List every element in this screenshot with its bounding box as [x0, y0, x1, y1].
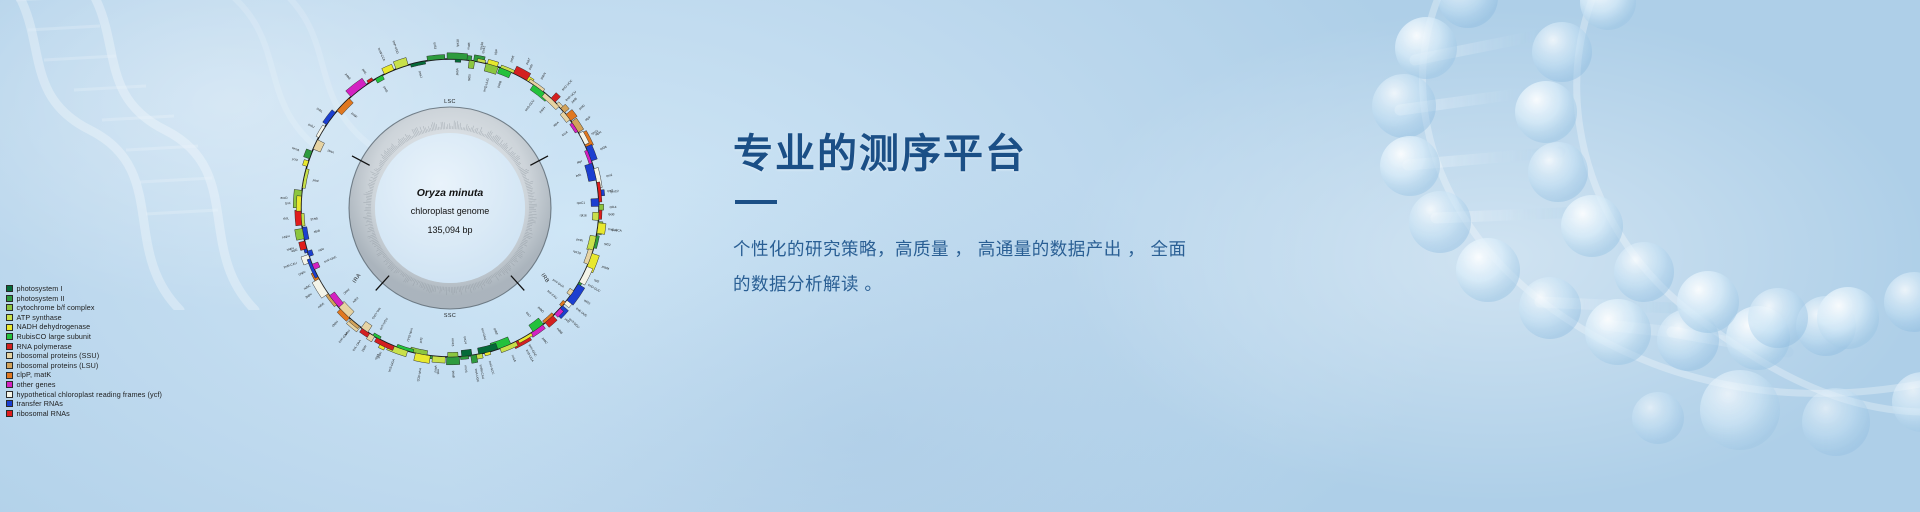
genome-gene-label: infA [575, 173, 582, 178]
genome-gene-feature [597, 223, 606, 235]
legend-row: other genes [6, 380, 162, 390]
genome-gene-label: psbC [541, 337, 549, 346]
genome-gene-feature [382, 64, 394, 74]
legend-color-swatch [6, 324, 13, 331]
genome-gene-label: psbE [344, 73, 351, 81]
genome-gene-label: trnI-CAU [546, 289, 558, 300]
genome-gene-label: rrn4.5 [451, 338, 455, 346]
genome-gene-feature [579, 267, 593, 286]
genome-gene-label: trnM-CAU [283, 261, 297, 269]
genome-gene-label: rpoC1 [577, 201, 586, 205]
genome-gene-label: matK [466, 41, 471, 50]
legend-row: photosystem I [6, 284, 162, 294]
genome-gene-label: trnQ-UUG [482, 77, 490, 92]
genome-gene-label: ndhC [303, 283, 312, 290]
genome-gene-label: clpP [493, 49, 499, 56]
genome-gene-label: rpl23 [583, 298, 591, 305]
genome-gene-label: ndhI [318, 247, 325, 253]
genome-gene-label: trnS-GGA [387, 358, 396, 373]
genome-gene-label: rpl14 [610, 205, 617, 209]
banner-copy: 专业的测序平台 个性化的研究策略，高质量 ， 高通量的数据产出 ， 全面 的数据… [733, 130, 1433, 302]
legend-label: photosystem II [17, 294, 65, 304]
legend-color-swatch [6, 333, 13, 340]
banner-description-line-1: 个性化的研究策略，高质量 ， 高通量的数据产出 ， 全面 [733, 232, 1263, 267]
genome-gene-label: trnT-UGU [379, 317, 389, 330]
legend-row: ATP synthase [6, 313, 162, 323]
genome-gene-label: trnG-GCC [488, 360, 496, 375]
genome-gene-label: psaB [451, 371, 455, 378]
genome-gene-feature [599, 204, 604, 210]
genome-gene-label: rpoB [608, 212, 615, 216]
genome-region-label-lsc: LSC [444, 99, 456, 105]
genome-gene-label: psaC [342, 288, 351, 296]
legend-color-swatch [6, 391, 13, 398]
legend-color-swatch [6, 410, 13, 417]
genome-gene-feature [296, 196, 301, 212]
genome-gene-label: trnN-GUU [406, 328, 414, 342]
genome-gene-feature [295, 210, 302, 226]
genome-gene-feature [313, 140, 324, 152]
genome-gene-feature [312, 279, 328, 298]
genome-gene-label: rpl32 [361, 344, 368, 352]
genome-organism-name: Oryza minuta [417, 187, 484, 199]
legend-color-swatch [6, 381, 13, 388]
legend-color-swatch [6, 372, 13, 379]
genome-gene-label: trnY-GUA [552, 278, 566, 289]
genome-gene-label: atpI [576, 159, 582, 165]
genome-gene-label: ndhB [556, 327, 564, 335]
genome-region-label-irb: IRB [539, 273, 550, 285]
legend-row: ribosomal proteins (LSU) [6, 361, 162, 371]
genome-gene-label: trnL-UAA [352, 338, 363, 352]
genome-gene-label: rpl16 [580, 213, 587, 217]
genome-subtitle: chloroplast genome [411, 206, 490, 216]
legend-row: transfer RNAs [6, 399, 162, 409]
genome-gene-label: cemA [291, 146, 301, 153]
title-underline-rule [735, 200, 777, 204]
banner-description-line-2: 的数据分析解读 。 [733, 267, 1263, 302]
genome-gene-label: petN [576, 237, 583, 242]
genome-gene-label: ndhH [282, 234, 290, 239]
genome-gene-label: ycf1 [284, 201, 290, 205]
legend-label: RNA polymerase [17, 342, 72, 352]
genome-gene-label: rps19 [573, 249, 582, 255]
genome-gene-feature [468, 60, 475, 69]
genome-gene-feature [432, 356, 445, 363]
genome-gene-label: trnS-GCU [524, 99, 536, 112]
page-title: 专业的测序平台 [733, 130, 1433, 178]
legend-row: RubisCO large subunit [6, 332, 162, 342]
genome-gene-label: psbJ [308, 122, 316, 129]
genome-gene-label: psbA [455, 67, 459, 75]
legend-color-swatch [6, 314, 13, 321]
legend-row: ribosomal proteins (SSU) [6, 351, 162, 361]
genome-gene-feature [414, 353, 431, 364]
legend-color-swatch [6, 343, 13, 350]
genome-gene-label: ndhJ [352, 296, 360, 304]
genome-gene-feature [585, 163, 597, 181]
genome-gene-label: ycf4 [292, 157, 299, 163]
legend-color-swatch [6, 400, 13, 407]
genome-gene-label: psaJ [418, 71, 423, 79]
genome-gene-label: accD [280, 196, 288, 200]
genome-gene-feature [560, 300, 566, 306]
legend-label: NADH dehydrogenase [17, 322, 91, 332]
genome-gene-label: rps8 [607, 188, 614, 193]
genome-gene-label: rps12 [481, 45, 487, 54]
legend-color-swatch [6, 362, 13, 369]
genome-gene-label: trnW-CCA [377, 47, 387, 62]
genome-gene-label: ndhA [285, 246, 294, 252]
genome-gene-label: trnD-GUC [587, 283, 602, 294]
legend-label: photosystem I [17, 284, 63, 294]
genome-region-label-ssc: SSC [444, 313, 456, 319]
genome-gene-label: rps7 [525, 311, 532, 318]
genome-gene-label: rps15 [310, 217, 318, 222]
genome-gene-feature [367, 78, 374, 84]
genome-gene-feature [375, 75, 384, 83]
genome-gene-label: psbD [537, 306, 545, 315]
genome-gene-label: rpl2 [593, 278, 600, 284]
legend-color-swatch [6, 285, 13, 292]
genome-gene-label: atpB [313, 229, 320, 234]
genome-gene-label: rpoA [561, 130, 569, 137]
genome-gene-label: rbcL [283, 216, 290, 220]
genome-gene-label: trnE-UUC [575, 306, 589, 318]
genome-gene-feature [591, 198, 599, 206]
genome-gene-label: trnV-UAC [324, 255, 338, 264]
legend-row: cytochrome b/f complex [6, 303, 162, 313]
genome-gene-feature [304, 149, 313, 159]
genome-gene-feature [592, 212, 599, 220]
legend-label: RubisCO large subunit [17, 332, 91, 342]
genome-gene-feature [455, 59, 461, 62]
genome-gene-label: psbZ [493, 328, 499, 336]
genome-gene-label: rps2 [606, 173, 613, 178]
genome-gene-label: rps3 [611, 228, 618, 233]
genome-gene-label: rpl33 [433, 42, 438, 49]
genome-gene-label: ycf3 [418, 337, 423, 344]
genome-gene-feature [460, 356, 468, 360]
genome-gene-label: petL [361, 68, 368, 75]
legend-row: photosystem II [6, 294, 162, 304]
genome-gene-label: psbK [509, 54, 516, 63]
legend-row: clpP, matK [6, 370, 162, 380]
genome-gene-label: petG [382, 85, 389, 93]
genome-gene-label: psbH [538, 106, 546, 114]
genome-gene-label: trnA-UGC [474, 368, 480, 383]
legend-row: RNA polymerase [6, 342, 162, 352]
genome-gene-label: trnI-GAU [480, 328, 487, 341]
chloroplast-genome-map: LSC IRB SSC IRA psbAmatKrps16trnQ-UUGpsb… [248, 6, 652, 410]
genome-gene-label: rps14 [463, 336, 468, 344]
genome-gene-label: atpA [552, 120, 560, 128]
legend-row: ribosomal RNAs [6, 409, 162, 419]
genome-gene-label: rpl36 [599, 145, 607, 151]
genome-gene-feature [301, 213, 305, 226]
genome-gene-label: psaI [312, 178, 319, 183]
legend-color-swatch [6, 295, 13, 302]
genome-gene-label: psbB [496, 80, 502, 88]
genome-gene-label: atpF [584, 115, 591, 122]
legend-label: hypothetical chloroplast reading frames … [17, 390, 163, 400]
genome-gene-feature [447, 53, 468, 60]
genome-gene-label: rrn5 [436, 369, 440, 375]
legend-label: ribosomal proteins (LSU) [17, 361, 99, 371]
genome-size: 135,094 bp [427, 225, 472, 235]
legend-label: ribosomal proteins (SSU) [17, 351, 100, 361]
genome-gene-label: psbM [601, 264, 610, 271]
genome-gene-feature [295, 229, 305, 241]
genome-gene-label: petD [578, 103, 586, 111]
genome-gene-label: rps18 [455, 39, 459, 47]
legend-color-swatch [6, 304, 13, 311]
genome-gene-feature [393, 58, 408, 70]
legend-label: clpP, matK [17, 370, 52, 380]
genome-gene-feature [461, 349, 472, 356]
genome-gene-feature [446, 357, 459, 365]
genome-gene-label: psbN [539, 72, 546, 80]
genome-gene-label: ndhG [297, 270, 306, 277]
legend-row: NADH dehydrogenase [6, 322, 162, 332]
legend-label: ribosomal RNAs [17, 409, 70, 419]
genome-gene-label: psbL [316, 106, 324, 113]
genome-legend: photosystem Iphotosystem IIcytochrome b/… [6, 284, 162, 418]
genome-gene-label: ndhK [317, 301, 326, 309]
hero-banner: LSC IRB SSC IRA psbAmatKrps16trnQ-UUGpsb… [0, 0, 1920, 512]
genome-gene-label: ndhD [330, 320, 339, 329]
genome-gene-feature [448, 352, 458, 357]
legend-label: ATP synthase [17, 313, 62, 323]
genome-gene-label: ndhE [304, 292, 312, 299]
genome-gene-label: petA [327, 148, 335, 155]
legend-label: cytochrome b/f complex [17, 303, 95, 313]
genome-gene-label: trnL-UAG [371, 307, 382, 320]
genome-region-label-ira: IRA [352, 273, 363, 285]
genome-gene-label: psbF [350, 111, 358, 119]
legend-label: other genes [17, 380, 56, 390]
legend-label: transfer RNAs [17, 399, 63, 409]
genome-gene-feature [316, 125, 325, 138]
genome-gene-label: rrn16 [511, 354, 518, 362]
genome-gene-label: rrn23 [463, 365, 468, 373]
genome-gene-feature [599, 209, 602, 220]
genome-gene-label: rpl20 [467, 74, 472, 82]
genome-gene-label: rpl22 [603, 242, 611, 248]
genome-gene-label: trnR-ACG [416, 368, 423, 383]
legend-color-swatch [6, 352, 13, 359]
genome-gene-label: trnG-UCC [561, 78, 574, 91]
banner-description: 个性化的研究策略，高质量 ， 高通量的数据产出 ， 全面 的数据分析解读 。 [733, 232, 1263, 302]
genome-gene-feature [323, 110, 336, 125]
legend-row: hypothetical chloroplast reading frames … [6, 390, 162, 400]
genome-gene-feature [471, 355, 478, 364]
genome-gene-label: trnP-UGG [392, 40, 400, 55]
